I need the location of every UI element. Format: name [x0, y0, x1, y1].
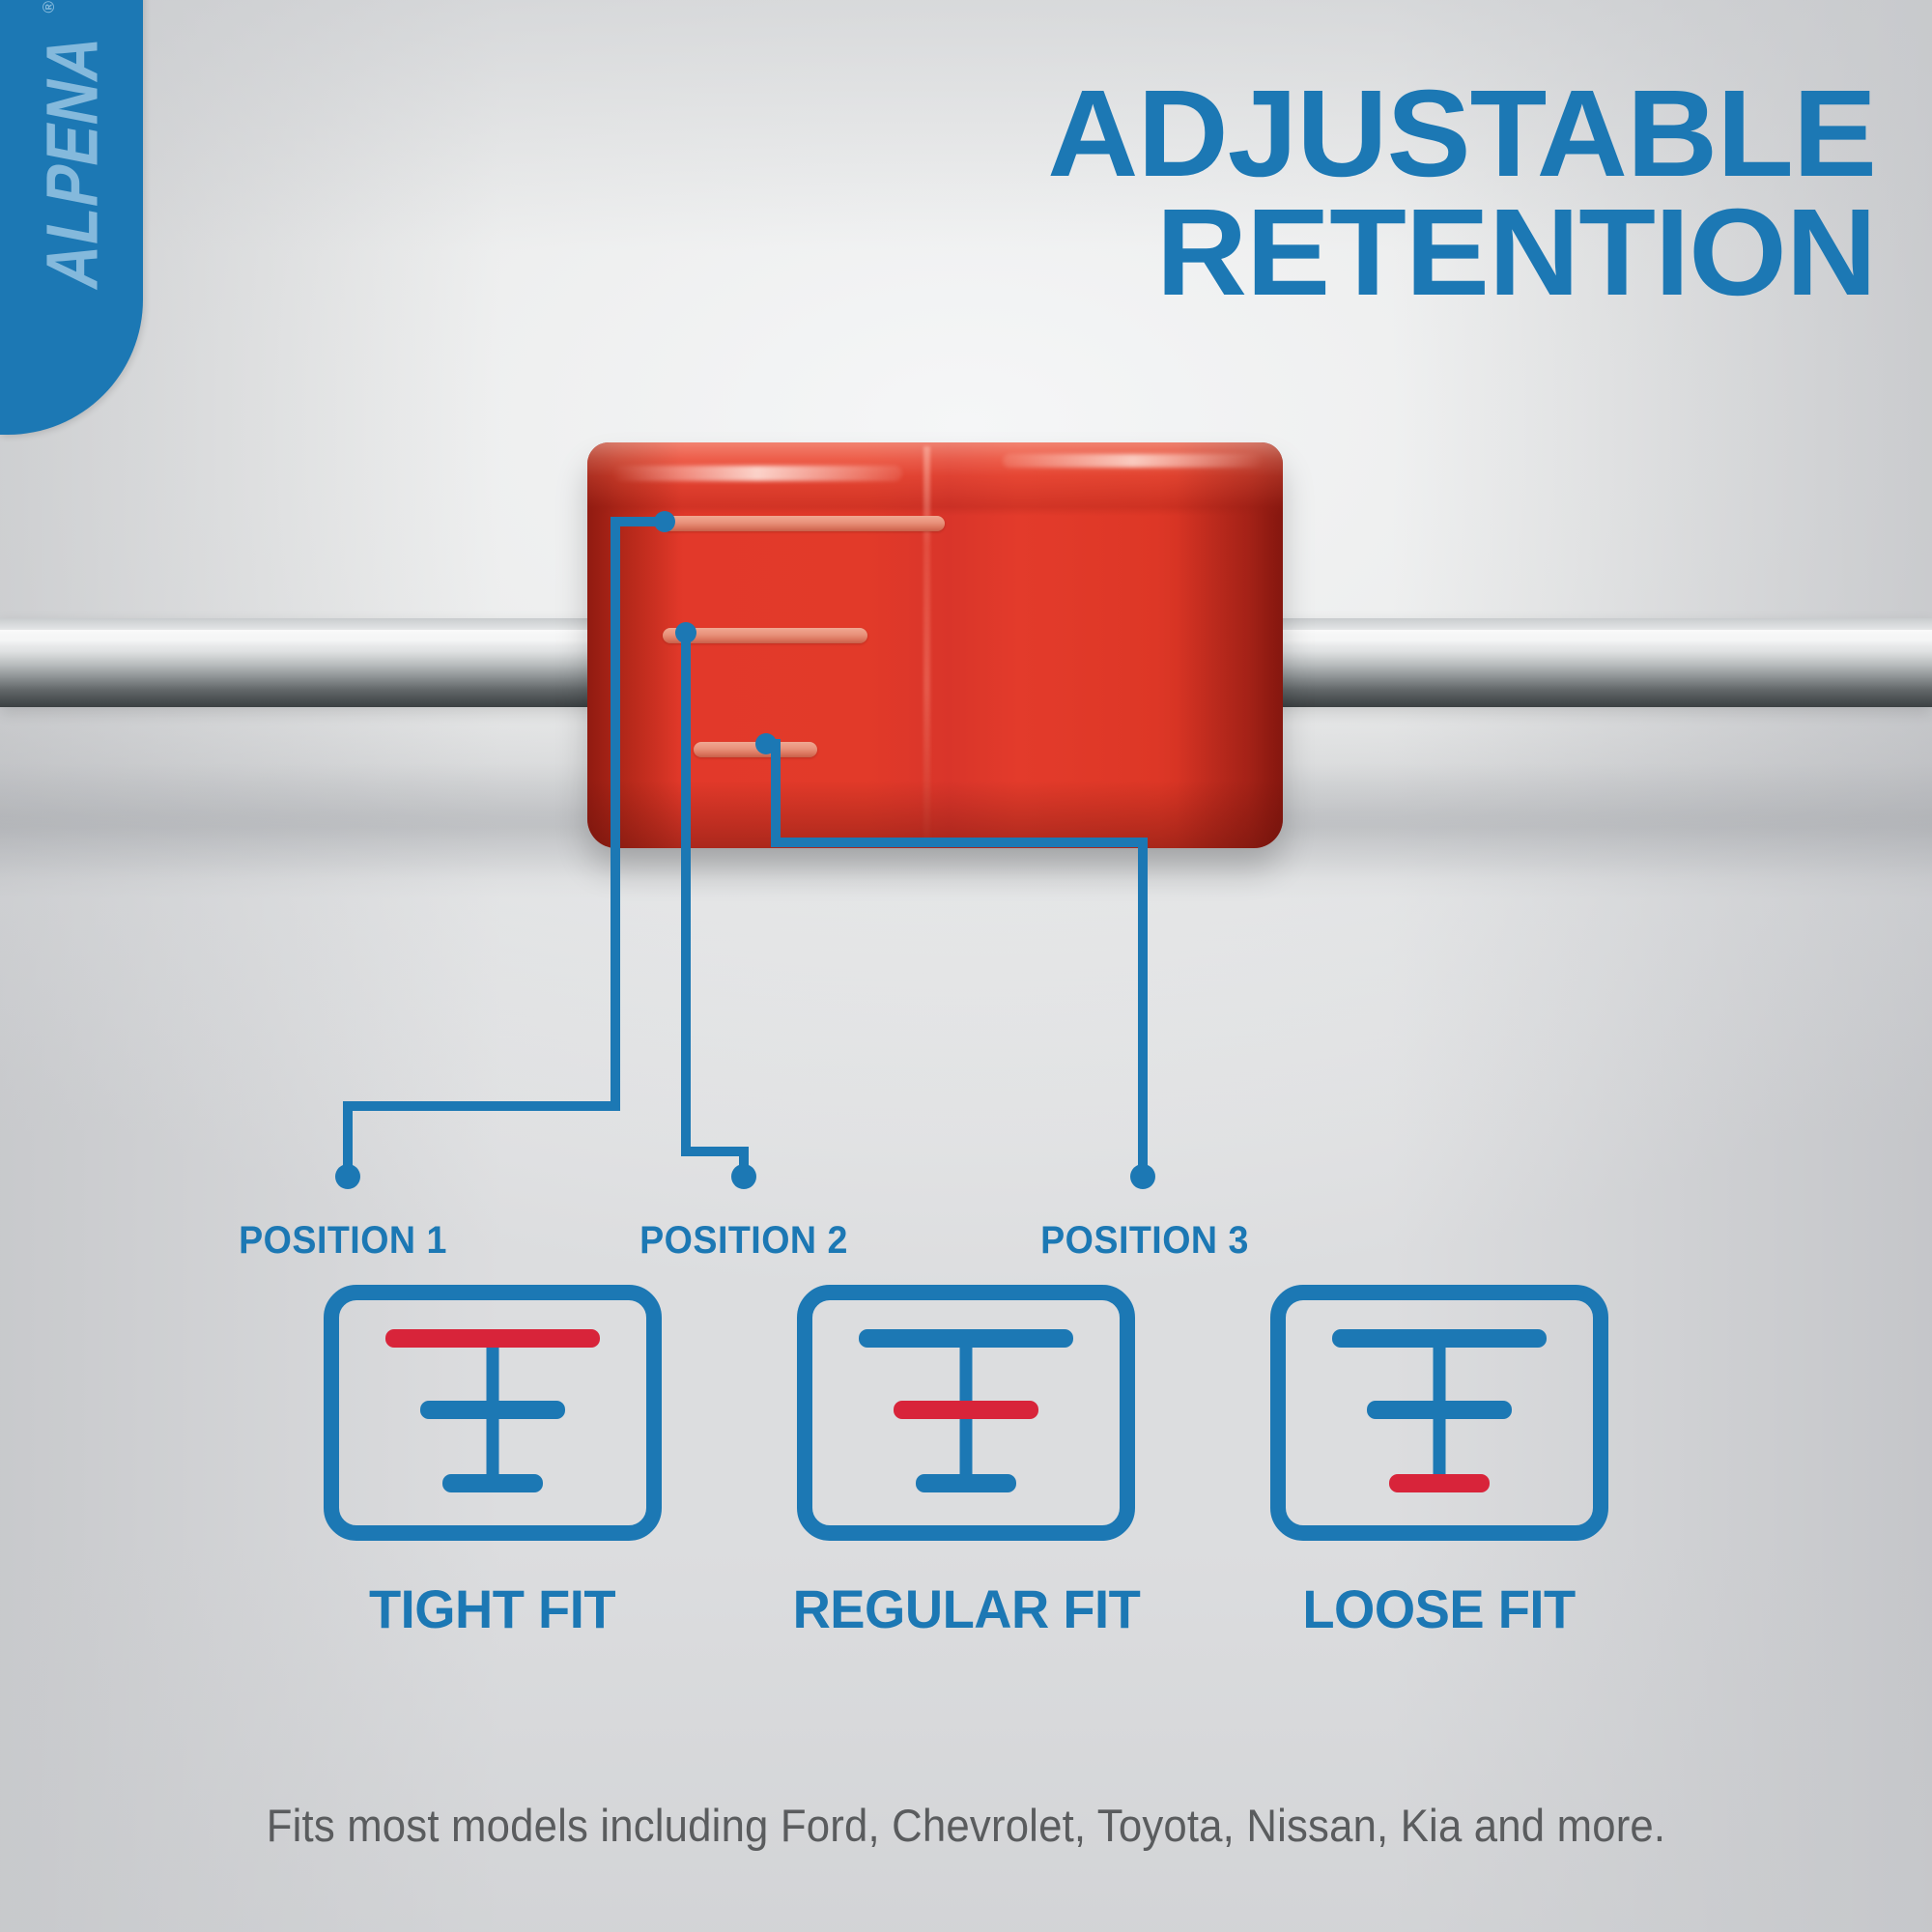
- retention-clip-icon-tight: [324, 1285, 662, 1541]
- compatibility-note: Fits most models including Ford, Chevrol…: [68, 1799, 1864, 1852]
- product-photo: [0, 425, 1932, 1043]
- leader-end-dot-position-2: [731, 1164, 756, 1189]
- clip-slot-position-2: [663, 628, 867, 643]
- infographic-canvas: ALPENA ® ADJUSTABLE RETENTION: [0, 0, 1932, 1932]
- page-title-line-2: RETENTION: [595, 194, 1876, 313]
- position-label-1: POSITION 1: [161, 1219, 525, 1263]
- clip-bar-middle-icon: [1367, 1401, 1512, 1419]
- clip-slot-position-3: [694, 742, 817, 757]
- page-title-line-1: ADJUSTABLE: [595, 75, 1876, 194]
- fit-label-tight: TIGHT FIT: [369, 1577, 615, 1640]
- retention-clip-icon-regular: [797, 1285, 1135, 1541]
- retention-clip-body: [587, 442, 1283, 848]
- clip-bar-middle-icon: [894, 1401, 1038, 1419]
- fit-label-loose: LOOSE FIT: [1303, 1577, 1576, 1640]
- clip-top-sheen-right: [1003, 454, 1264, 468]
- fit-card-loose: LOOSE FIT: [1270, 1285, 1608, 1640]
- fit-card-tight: TIGHT FIT: [324, 1285, 662, 1640]
- alpena-logo: ALPENA ®: [36, 0, 111, 335]
- clip-bar-top-icon: [859, 1329, 1073, 1348]
- page-title: ADJUSTABLE RETENTION: [595, 75, 1876, 313]
- fit-label-regular: REGULAR FIT: [792, 1577, 1140, 1640]
- clip-bar-middle-icon: [420, 1401, 565, 1419]
- clip-bottom-shading: [587, 781, 1283, 848]
- fit-options-row: TIGHT FIT REGULAR FIT LOOSE FIT: [0, 1285, 1932, 1640]
- clip-bar-top-icon: [385, 1329, 600, 1348]
- leader-end-dot-position-3: [1130, 1164, 1155, 1189]
- registered-trademark-icon: ®: [40, 1, 59, 14]
- clip-top-sheen-left: [612, 466, 902, 481]
- position-label-2: POSITION 2: [562, 1219, 925, 1263]
- retention-clip-icon-loose: [1270, 1285, 1608, 1541]
- leader-end-dot-position-1: [335, 1164, 360, 1189]
- brand-wordmark: ALPENA: [37, 28, 110, 295]
- position-label-3: POSITION 3: [963, 1219, 1326, 1263]
- clip-bar-bottom-icon: [1389, 1474, 1490, 1492]
- fit-card-regular: REGULAR FIT: [797, 1285, 1135, 1640]
- brand-banner: ALPENA ®: [0, 0, 143, 435]
- clip-bar-bottom-icon: [916, 1474, 1016, 1492]
- clip-slot-position-1: [663, 516, 945, 531]
- clip-bar-bottom-icon: [442, 1474, 543, 1492]
- clip-center-seam: [923, 446, 930, 844]
- clip-bar-top-icon: [1332, 1329, 1547, 1348]
